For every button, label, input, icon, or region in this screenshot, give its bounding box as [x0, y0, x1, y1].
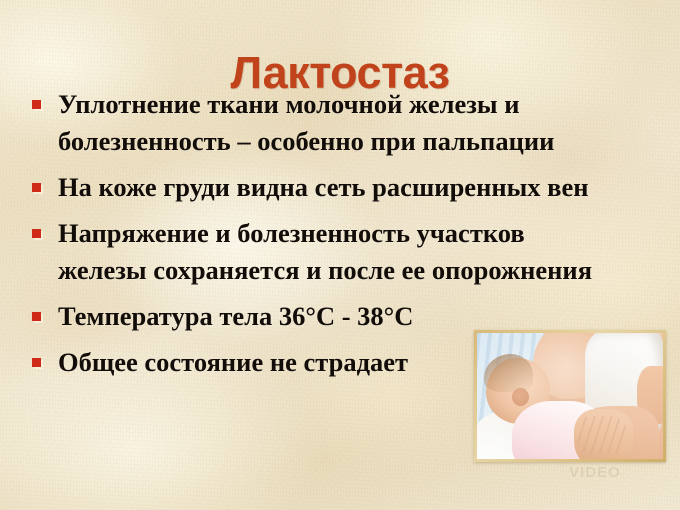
- presentation-slide: Лактостаз Уплотнение ткани молочной желе…: [0, 0, 680, 510]
- bullet-item-5: Общее состояние не страдает: [28, 344, 488, 381]
- photo-soft-light-overlay: [477, 333, 663, 459]
- bullet-text-2: На коже груди видна сеть расширенных вен: [58, 172, 589, 202]
- watermark-text: VIDEO: [520, 464, 670, 481]
- bullet-item-1: Уплотнение ткани молочной железы и болез…: [28, 86, 638, 160]
- bullet-item-2: На коже груди видна сеть расширенных вен: [28, 169, 633, 206]
- bullet-square-icon: [32, 100, 41, 109]
- bullet-item-4: Температура тела 36°С - 38°С: [28, 298, 488, 335]
- bullet-square-icon: [32, 358, 41, 367]
- bullet-text-5: Общее состояние не страдает: [58, 347, 408, 377]
- bullet-square-icon: [32, 183, 41, 192]
- bullet-square-icon: [32, 312, 41, 321]
- breastfeeding-photo: [477, 333, 663, 459]
- bullet-item-3: Напряжение и болезненность участков желе…: [28, 215, 618, 289]
- bullet-text-1: Уплотнение ткани молочной железы и болез…: [58, 89, 554, 156]
- bullet-text-3: Напряжение и болезненность участков желе…: [58, 218, 592, 285]
- photo-frame: [474, 330, 666, 462]
- bullet-square-icon: [32, 229, 41, 238]
- bullet-text-4: Температура тела 36°С - 38°С: [58, 301, 413, 331]
